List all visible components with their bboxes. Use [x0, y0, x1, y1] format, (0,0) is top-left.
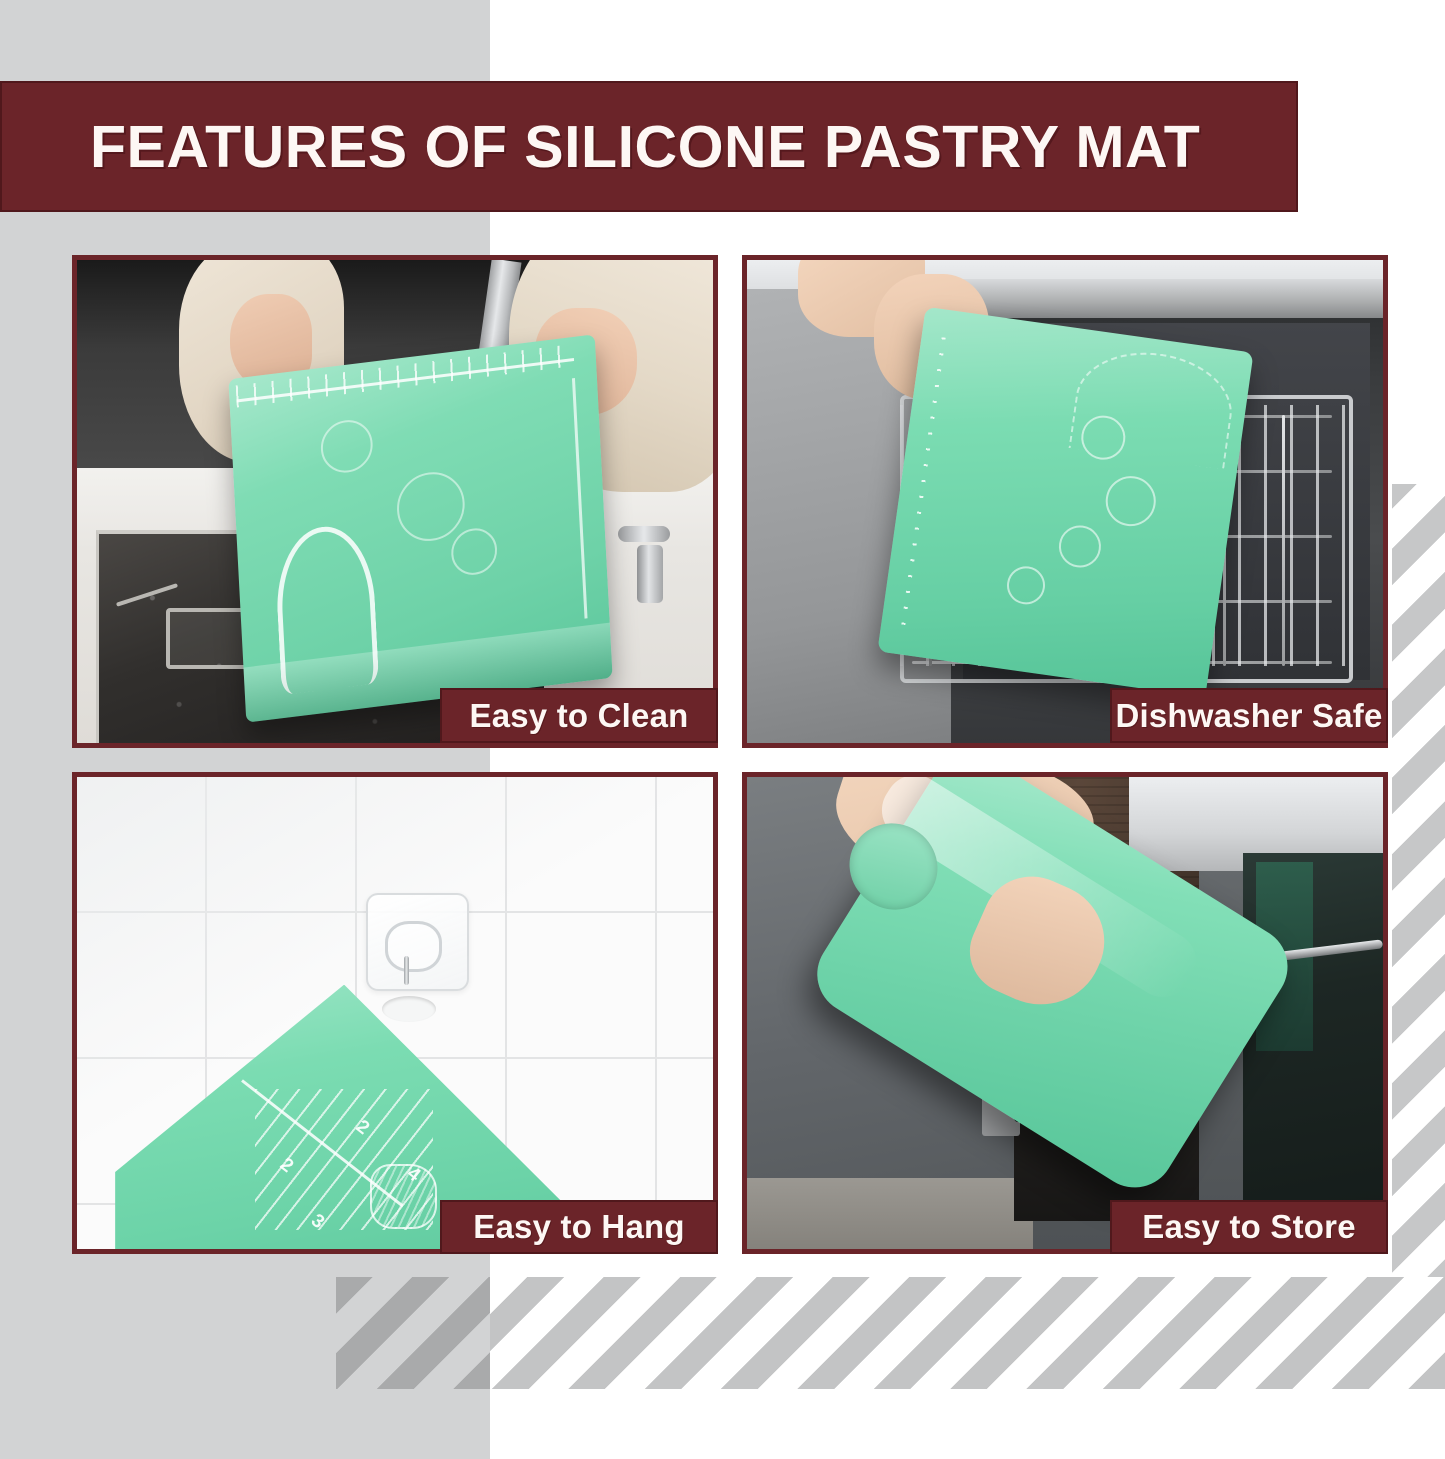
feature-card-dishwasher-safe — [742, 255, 1388, 748]
mat-pastry-icon — [370, 1164, 438, 1229]
diagonal-stripe-band-bottom — [336, 1277, 1445, 1389]
header-banner: FEATURES OF SILICONE PASTRY MAT — [0, 81, 1298, 212]
hook-knob-icon — [385, 921, 442, 972]
photo-easy-to-store — [747, 777, 1383, 1249]
mat-circle-guide — [1102, 473, 1158, 529]
mat-ruler-vertical — [572, 378, 588, 619]
feature-card-easy-to-clean — [72, 255, 718, 748]
silicone-pastry-mat — [228, 334, 612, 722]
mat-circle-guide — [450, 526, 498, 578]
caption-label: Easy to Clean — [469, 697, 688, 735]
caption-easy-to-hang: Easy to Hang — [440, 1200, 718, 1254]
mat-circle-guide — [319, 417, 373, 475]
infographic-canvas: FEATURES OF SILICONE PASTRY MAT — [0, 0, 1445, 1459]
caption-dishwasher-safe: Dishwasher Safe — [1110, 688, 1388, 743]
mat-circle-guide — [396, 468, 467, 544]
caption-easy-to-clean: Easy to Clean — [440, 688, 718, 743]
mat-circle-guide — [1056, 522, 1103, 569]
page-title: FEATURES OF SILICONE PASTRY MAT — [90, 113, 1200, 181]
photo-dishwasher-safe — [747, 260, 1383, 743]
photo-easy-to-clean — [77, 260, 713, 743]
diagonal-stripe-band-bottom-overlap — [336, 1277, 490, 1389]
soap-dispenser-top — [618, 526, 670, 542]
caption-label: Easy to Store — [1142, 1208, 1356, 1246]
feature-card-easy-to-store — [742, 772, 1388, 1254]
caption-label: Dishwasher Safe — [1115, 697, 1382, 735]
feature-card-easy-to-hang: 2 4 6 2 3 — [72, 772, 718, 1254]
diagonal-stripe-band-right — [1392, 484, 1445, 1296]
photo-easy-to-hang: 2 4 6 2 3 — [77, 777, 713, 1249]
silicone-pastry-mat — [877, 306, 1253, 696]
floor — [747, 1178, 1033, 1249]
dishwasher-door-top — [951, 279, 1383, 318]
mat-circle-guide — [1004, 564, 1047, 607]
caption-easy-to-store: Easy to Store — [1110, 1200, 1388, 1254]
soap-dispenser — [637, 545, 663, 603]
hook-stem — [404, 956, 409, 984]
caption-label: Easy to Hang — [473, 1208, 684, 1246]
